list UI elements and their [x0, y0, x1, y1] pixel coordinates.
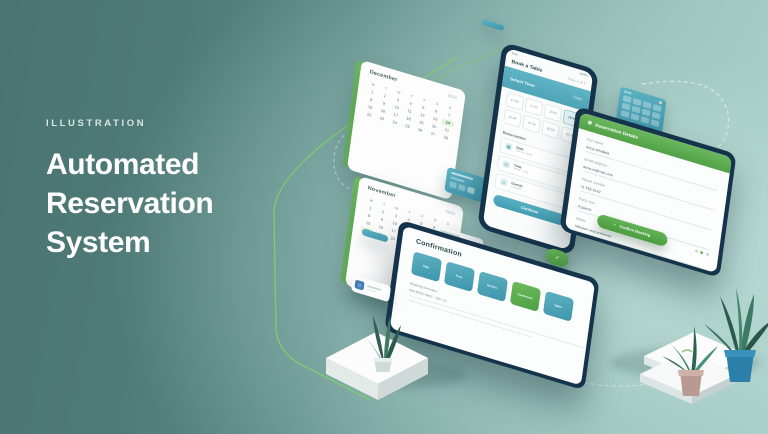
time-slot[interactable]: 17:00 — [505, 92, 524, 111]
tablet-bezel: Reservation Details Full nameAnna Whitfi… — [559, 106, 736, 278]
time-slot[interactable]: 18:00 — [544, 103, 563, 122]
calendar-year-label: 2024 — [446, 209, 456, 216]
pager-dot[interactable] — [694, 249, 697, 253]
avatar: ☺ — [354, 279, 364, 290]
fern-plant-right — [660, 318, 720, 407]
isometric-scene: December 2024 MTWTFSS1234567891011121314… — [250, 18, 768, 418]
keypad-key[interactable] — [650, 119, 659, 127]
form-tablet[interactable]: Reservation Details Full nameAnna Whitfi… — [559, 106, 736, 278]
reservation-row-text: Time18:30 · 2 hrs — [513, 163, 529, 174]
status-dot-icon — [659, 100, 662, 104]
keypad-title: Slots — [624, 89, 632, 95]
tablet-screen: Reservation Details Full nameAnna Whitfi… — [565, 112, 732, 273]
illustration-banner: ILLUSTRATION Automated Reservation Syste… — [0, 0, 768, 434]
keypad-key[interactable] — [631, 113, 640, 121]
pager-dot[interactable] — [700, 250, 703, 254]
snake-plant-left — [358, 312, 408, 379]
reservation-row-text: Guests4 people — [511, 181, 523, 191]
reservation-row-text: DateDec 14, 2024 — [516, 146, 533, 157]
keypad-key[interactable] — [621, 110, 630, 118]
time-slot[interactable]: 17:30 — [525, 98, 544, 117]
keypad-key[interactable] — [632, 105, 641, 113]
check-icon: ✓ — [613, 222, 617, 228]
keypad-key[interactable] — [622, 102, 631, 110]
clock-icon: ◴ — [502, 160, 510, 169]
keypad-key[interactable] — [641, 116, 650, 124]
plant-icon — [358, 312, 408, 374]
calendar-grid[interactable]: MTWTFSS123456789101112131415161718192021… — [363, 80, 457, 142]
check-icon: ✓ — [554, 254, 560, 262]
calendar-year-label: 2024 — [448, 93, 458, 100]
band-title: Select Time — [510, 76, 535, 88]
avatar-meta — [367, 285, 382, 294]
status-pill-top[interactable] — [482, 19, 505, 31]
window-dot-icon — [587, 120, 592, 125]
calendar-icon: ▦ — [505, 142, 513, 151]
pager-dot[interactable] — [705, 252, 708, 256]
keypad-key[interactable] — [642, 108, 651, 116]
pedestal-left — [318, 314, 438, 409]
people-icon: ☺ — [500, 178, 508, 187]
person-icon: ☺ — [357, 281, 363, 288]
keypad-key[interactable] — [651, 111, 660, 119]
band-note: Today — [572, 95, 582, 102]
plant-icon — [660, 318, 720, 402]
